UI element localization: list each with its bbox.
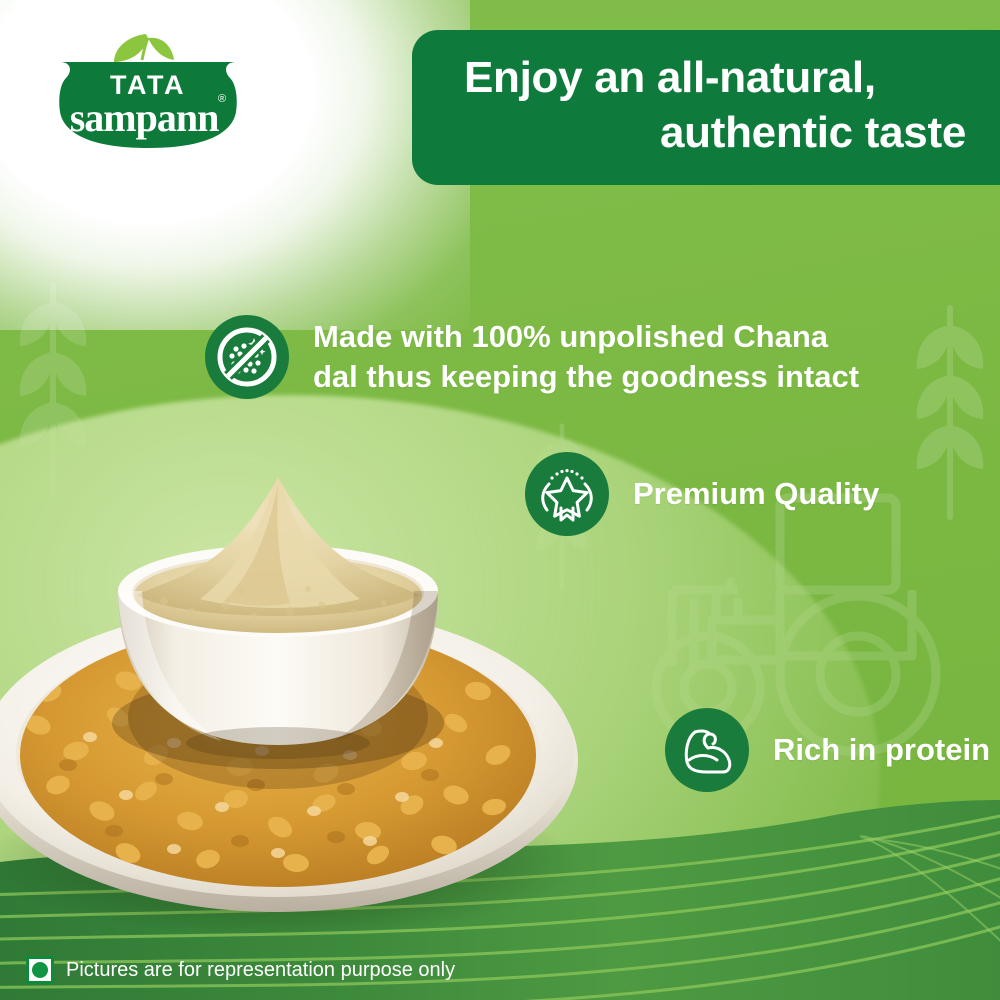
vegetarian-mark-icon bbox=[26, 956, 54, 984]
product-advertisement: TATA sampann ® Enjoy an all-natural, aut… bbox=[0, 0, 1000, 1000]
feature-row-unpolished: Made with 100% unpolished Chana dal thus… bbox=[205, 315, 859, 399]
muscle-arm-icon bbox=[665, 708, 749, 792]
feature-text-line: Rich in protein bbox=[773, 730, 990, 770]
feature-text-unpolished: Made with 100% unpolished Chana dal thus… bbox=[313, 317, 859, 396]
footer-disclaimer: Pictures are for representation purpose … bbox=[26, 956, 455, 984]
feature-row-premium-quality: Premium Quality bbox=[525, 452, 879, 536]
disclaimer-text: Pictures are for representation purpose … bbox=[66, 959, 455, 982]
logo-line-2: sampann bbox=[70, 95, 219, 140]
feature-text-line: Premium Quality bbox=[633, 474, 879, 514]
headline-line-2: authentic taste bbox=[464, 105, 966, 160]
headline-banner: Enjoy an all-natural, authentic taste bbox=[412, 30, 1000, 185]
logo-trademark: ® bbox=[218, 93, 226, 105]
feature-text-line: Made with 100% unpolished Chana bbox=[313, 317, 859, 357]
vegetarian-mark-dot bbox=[32, 962, 48, 978]
feature-text-premium-quality: Premium Quality bbox=[633, 474, 879, 514]
feature-text-line: dal thus keeping the goodness intact bbox=[313, 357, 859, 397]
feature-text-rich-in-protein: Rich in protein bbox=[773, 730, 990, 770]
tata-sampann-logo: TATA sampann ® bbox=[42, 28, 254, 158]
headline-line-1: Enjoy an all-natural, bbox=[464, 50, 966, 105]
premium-star-badge-icon bbox=[525, 452, 609, 536]
feature-row-rich-in-protein: Rich in protein bbox=[665, 708, 990, 792]
no-polish-icon bbox=[205, 315, 289, 399]
